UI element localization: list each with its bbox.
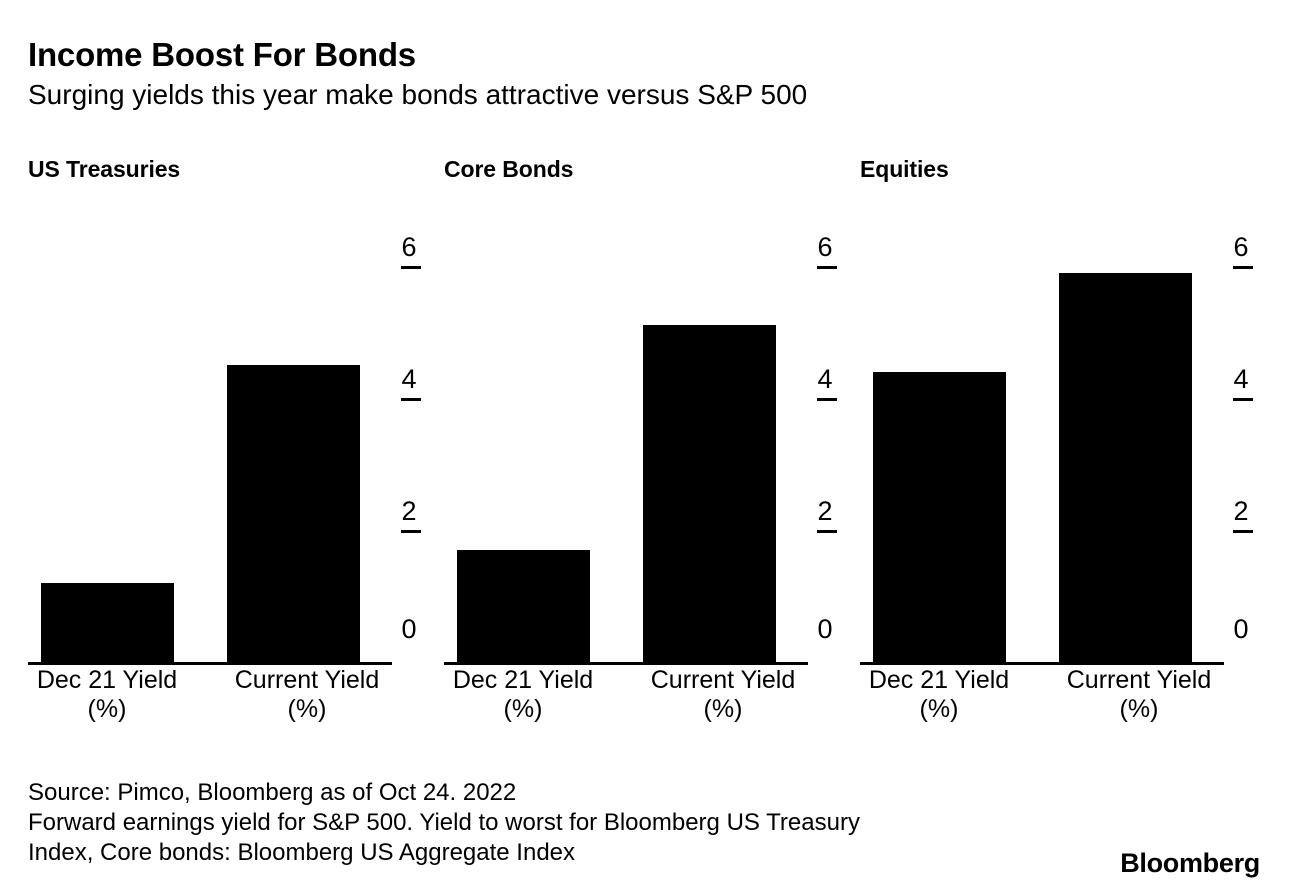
y-tick-dash-icon: [817, 530, 837, 533]
bar-dec-21-yield: [457, 550, 590, 662]
x-label-line2: (%): [846, 695, 1032, 724]
y-tick-label: 0: [808, 616, 842, 643]
y-tick-dash-icon: [401, 266, 421, 269]
y-tick-label: 4: [392, 366, 426, 393]
x-label-current-yield: Current Yield (%): [1046, 666, 1232, 724]
chart-header: Income Boost For Bonds Surging yields th…: [28, 36, 1258, 112]
source-line-2: Forward earnings yield for S&P 500. Yiel…: [28, 808, 1128, 838]
x-label-line2: (%): [1046, 695, 1232, 724]
y-tick-label: 4: [1224, 366, 1258, 393]
axis-baseline: [28, 662, 392, 665]
x-label-dec-21-yield: Dec 21 Yield (%): [430, 666, 616, 724]
source-line-3: Index, Core bonds: Bloomberg US Aggregat…: [28, 838, 1128, 868]
y-tick-label: 6: [392, 234, 426, 261]
bar-dec-21-yield: [873, 372, 1006, 662]
bar-dec-21-yield: [41, 583, 174, 662]
y-tick-dash-icon: [1233, 266, 1253, 269]
x-label-line1: Dec 21 Yield: [37, 666, 177, 694]
y-tick-dash-icon: [401, 530, 421, 533]
x-label-line1: Current Yield: [235, 666, 380, 694]
y-axis: 6 4 2 0: [808, 210, 848, 662]
source-line-1: Source: Pimco, Bloomberg as of Oct 24. 2…: [28, 778, 1128, 808]
bar-current-yield: [643, 325, 776, 662]
y-tick-dash-icon: [817, 266, 837, 269]
page-title: Income Boost For Bonds: [28, 36, 1258, 74]
y-tick-dash-icon: [1233, 398, 1253, 401]
plot-area: [860, 210, 1224, 662]
page-subtitle: Surging yields this year make bonds attr…: [28, 78, 1258, 112]
chart-panel-equities: Equities 6 4 2 0: [860, 150, 1256, 730]
x-axis-labels: Dec 21 Yield (%) Current Yield (%): [28, 666, 410, 730]
chart-panel-us-treasuries: US Treasuries 6 4 2: [28, 150, 424, 730]
x-label-line2: (%): [430, 695, 616, 724]
y-axis: 6 4 2 0: [392, 210, 432, 662]
x-label-line1: Current Yield: [1067, 666, 1212, 694]
panel-title: Core Bonds: [444, 156, 573, 183]
chart-page: Income Boost For Bonds Surging yields th…: [0, 0, 1290, 892]
plot-area: [444, 210, 808, 662]
bar-current-yield: [1059, 273, 1192, 662]
x-label-line1: Dec 21 Yield: [453, 666, 593, 694]
bloomberg-logo: Bloomberg: [1120, 848, 1260, 879]
x-label-current-yield: Current Yield (%): [214, 666, 400, 724]
x-label-dec-21-yield: Dec 21 Yield (%): [846, 666, 1032, 724]
panel-title: US Treasuries: [28, 156, 180, 183]
plot-area: [28, 210, 392, 662]
x-label-line2: (%): [214, 695, 400, 724]
x-label-line1: Dec 21 Yield: [869, 666, 1009, 694]
chart-panel-core-bonds: Core Bonds 6 4 2: [444, 150, 840, 730]
y-tick-label: 0: [392, 616, 426, 643]
y-tick-dash-icon: [401, 398, 421, 401]
x-label-line1: Current Yield: [651, 666, 796, 694]
y-tick-dash-icon: [1233, 530, 1253, 533]
bar-current-yield: [227, 365, 360, 662]
panel-title: Equities: [860, 156, 949, 183]
x-label-dec-21-yield: Dec 21 Yield (%): [14, 666, 200, 724]
x-axis-labels: Dec 21 Yield (%) Current Yield (%): [860, 666, 1242, 730]
y-tick-label: 2: [1224, 498, 1258, 525]
y-tick-label: 6: [1224, 234, 1258, 261]
y-tick-dash-icon: [817, 398, 837, 401]
y-tick-label: 2: [392, 498, 426, 525]
y-tick-label: 6: [808, 234, 842, 261]
axis-baseline: [860, 662, 1224, 665]
chart-footer: Source: Pimco, Bloomberg as of Oct 24. 2…: [28, 778, 1128, 868]
y-axis: 6 4 2 0: [1224, 210, 1264, 662]
axis-baseline: [444, 662, 808, 665]
y-tick-label: 0: [1224, 616, 1258, 643]
y-tick-label: 4: [808, 366, 842, 393]
x-label-line2: (%): [630, 695, 816, 724]
x-axis-labels: Dec 21 Yield (%) Current Yield (%): [444, 666, 826, 730]
x-label-current-yield: Current Yield (%): [630, 666, 816, 724]
chart-panels: US Treasuries 6 4 2: [0, 150, 1290, 730]
y-tick-label: 2: [808, 498, 842, 525]
x-label-line2: (%): [14, 695, 200, 724]
